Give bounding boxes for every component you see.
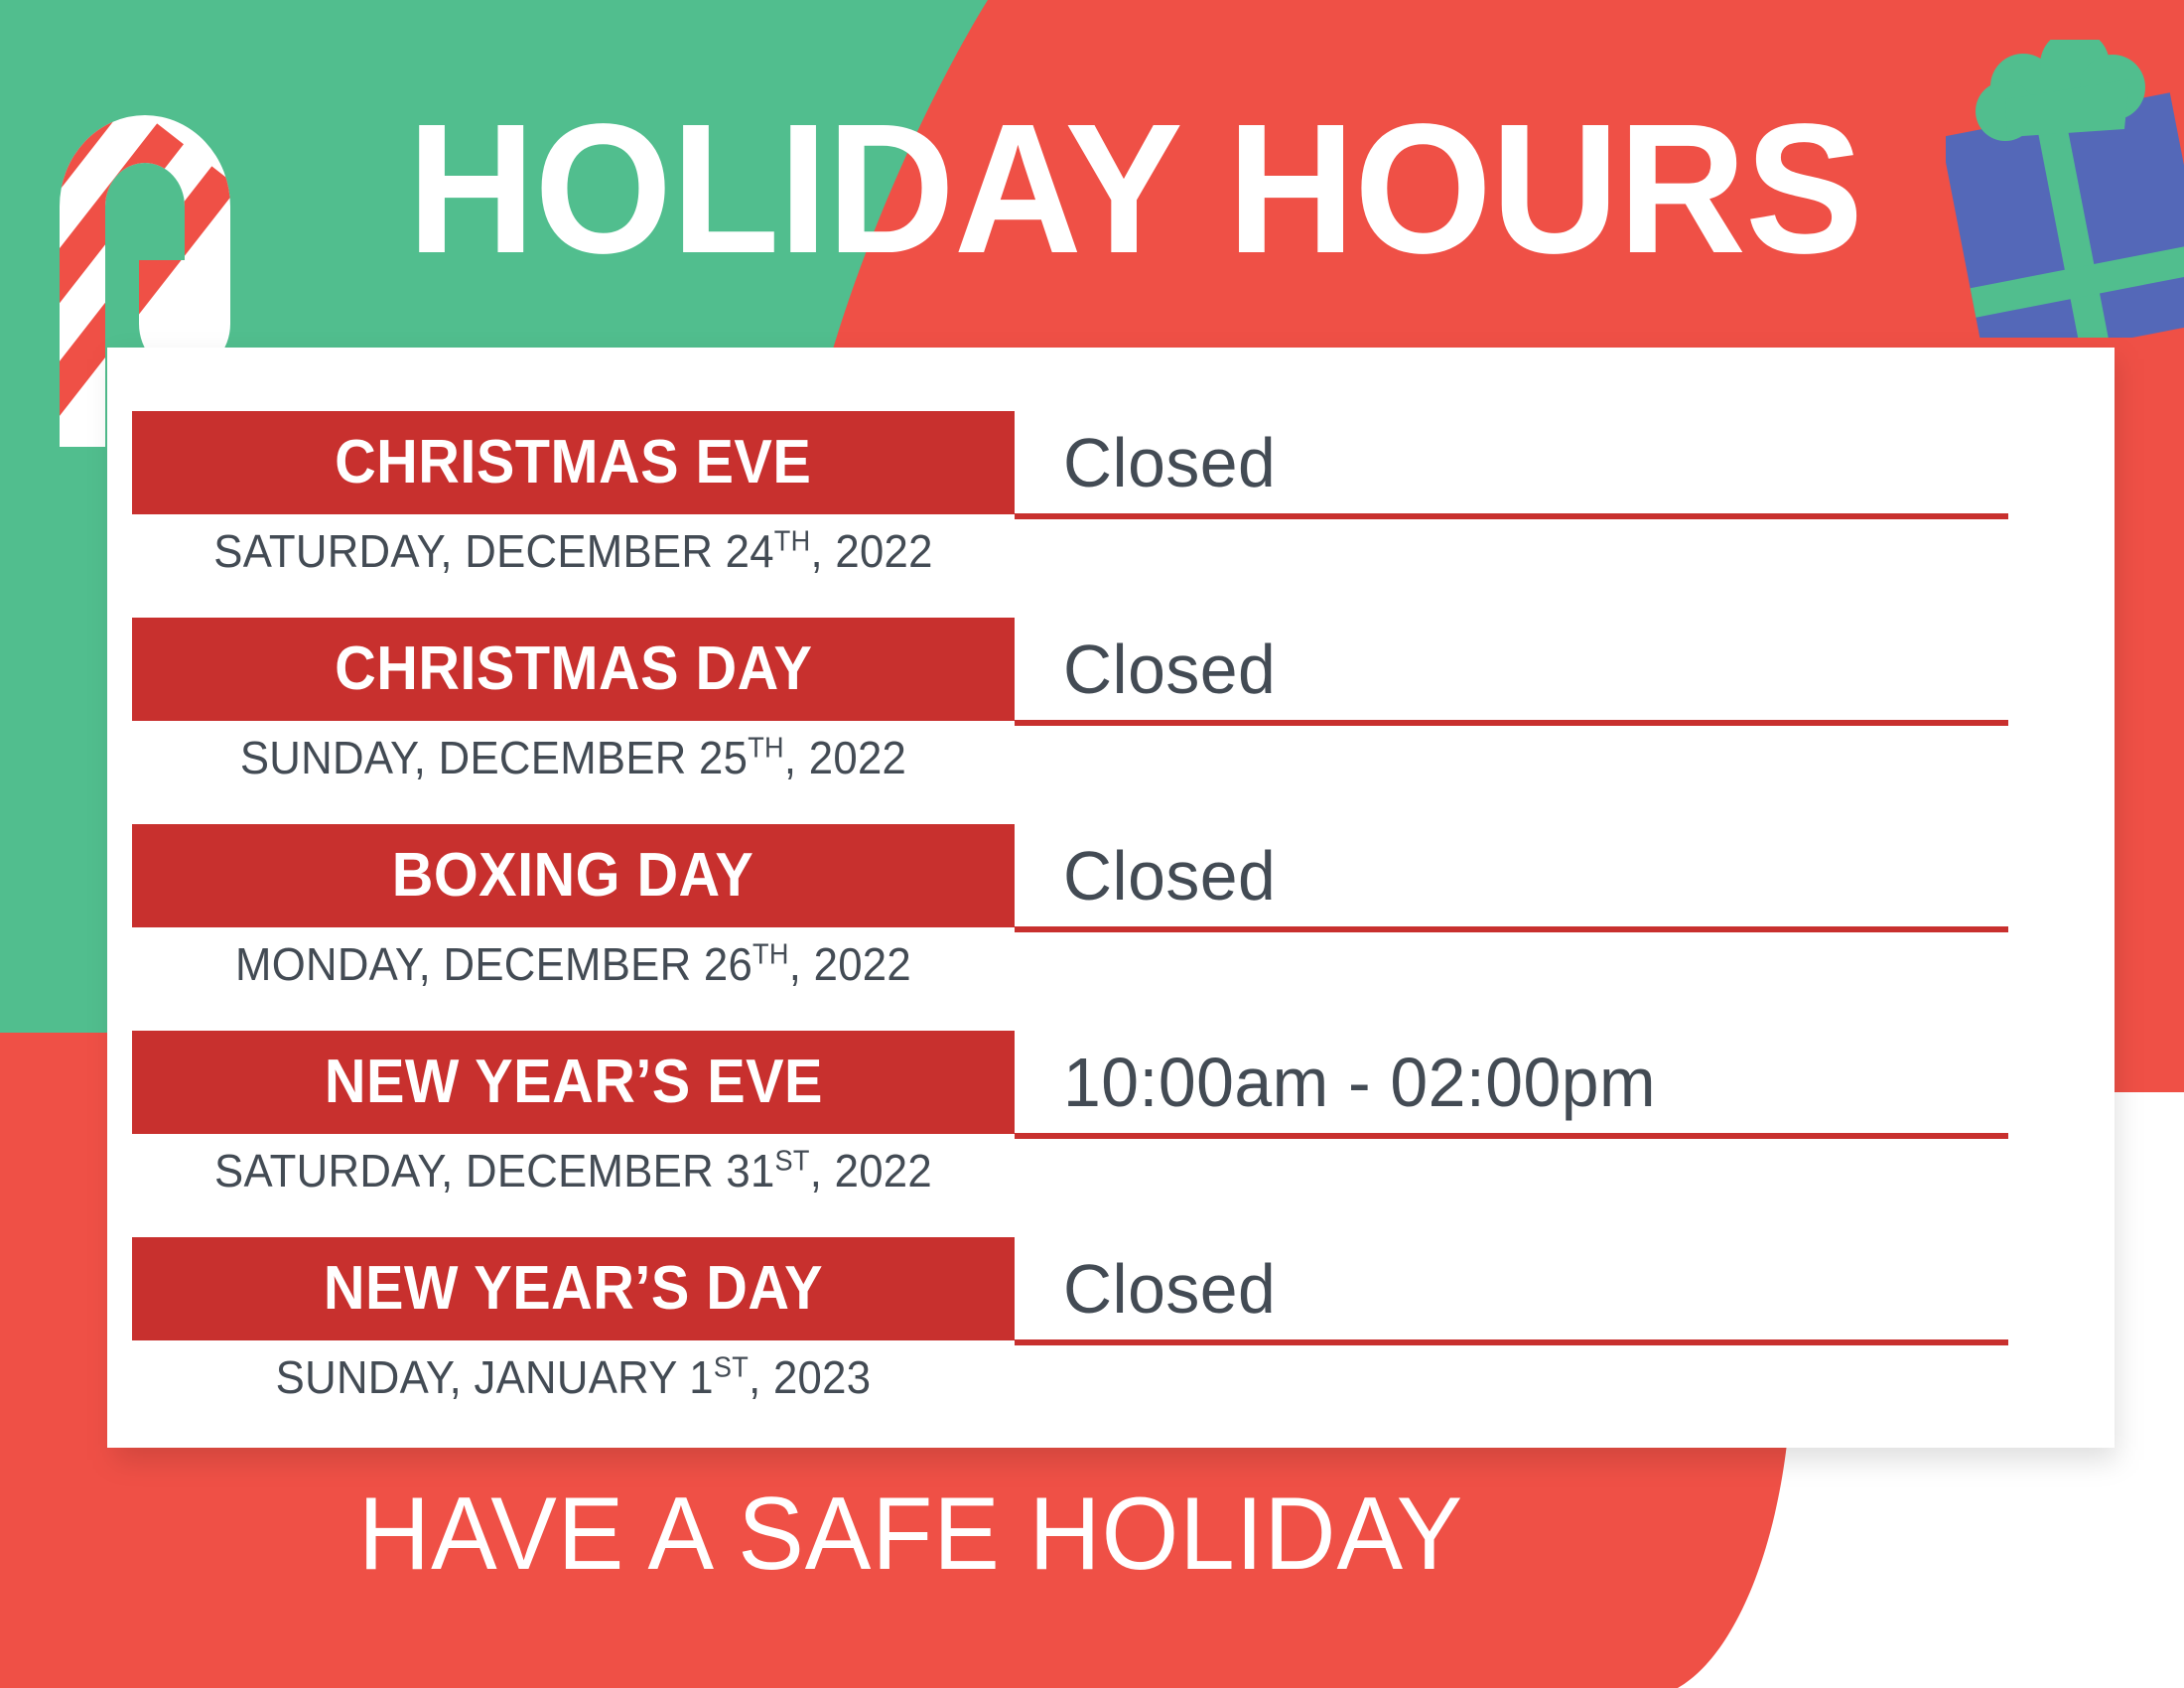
holiday-date-suffix: , 2022 bbox=[789, 938, 911, 990]
schedule-row: NEW YEAR’S DAY Closed SUNDAY, JANUARY 1S… bbox=[107, 1237, 2115, 1444]
holiday-hours-poster: HOLIDAY HOURS CHRISTMAS EVE Closed SATUR… bbox=[0, 0, 2184, 1688]
holiday-date-ordinal: TH bbox=[774, 526, 811, 558]
holiday-date-ordinal: TH bbox=[748, 733, 784, 765]
holiday-name-bar: CHRISTMAS DAY bbox=[132, 618, 1015, 721]
schedule-row: NEW YEAR’S EVE 10:00am - 02:00pm SATURDA… bbox=[107, 1031, 2115, 1237]
holiday-name-label: CHRISTMAS EVE bbox=[335, 432, 811, 493]
holiday-name-bar: BOXING DAY bbox=[132, 824, 1015, 927]
holiday-date-suffix: , 2023 bbox=[749, 1351, 871, 1403]
holiday-hours-cell: Closed bbox=[1063, 618, 2056, 721]
page-title: HOLIDAY HOURS bbox=[44, 95, 2140, 284]
schedule-row: CHRISTMAS EVE Closed SATURDAY, DECEMBER … bbox=[107, 411, 2115, 618]
holiday-hours-value: 10:00am - 02:00pm bbox=[1063, 1047, 1656, 1118]
holiday-name-bar: NEW YEAR’S DAY bbox=[132, 1237, 1015, 1340]
holiday-date: SATURDAY, DECEMBER 24TH, 2022 bbox=[154, 522, 993, 580]
holiday-date-ordinal: TH bbox=[752, 939, 789, 971]
holiday-date-suffix: , 2022 bbox=[784, 732, 906, 783]
row-divider-rule bbox=[1015, 720, 2008, 726]
holiday-date: SATURDAY, DECEMBER 31ST, 2022 bbox=[154, 1142, 993, 1199]
holiday-hours-value: Closed bbox=[1063, 633, 1276, 705]
holiday-date: MONDAY, DECEMBER 26TH, 2022 bbox=[154, 935, 993, 993]
holiday-date: SUNDAY, JANUARY 1ST, 2023 bbox=[154, 1348, 993, 1406]
holiday-name-bar: CHRISTMAS EVE bbox=[132, 411, 1015, 514]
holiday-hours-cell: Closed bbox=[1063, 1237, 2056, 1340]
holiday-hours-value: Closed bbox=[1063, 1253, 1276, 1325]
holiday-date-suffix: , 2022 bbox=[810, 525, 932, 577]
holiday-date-prefix: MONDAY, DECEMBER 26 bbox=[235, 938, 752, 990]
holiday-date-prefix: SUNDAY, JANUARY 1 bbox=[276, 1351, 714, 1403]
holiday-name-label: NEW YEAR’S DAY bbox=[324, 1258, 823, 1320]
schedule-row: CHRISTMAS DAY Closed SUNDAY, DECEMBER 25… bbox=[107, 618, 2115, 824]
holiday-hours-cell: Closed bbox=[1063, 824, 2056, 927]
holiday-hours-value: Closed bbox=[1063, 840, 1276, 912]
holiday-hours-cell: Closed bbox=[1063, 411, 2056, 514]
holiday-date-ordinal: ST bbox=[714, 1352, 749, 1384]
holiday-hours-cell: 10:00am - 02:00pm bbox=[1063, 1031, 2056, 1134]
schedule-card: CHRISTMAS EVE Closed SATURDAY, DECEMBER … bbox=[107, 348, 2115, 1448]
row-divider-rule bbox=[1015, 926, 2008, 932]
holiday-name-bar: NEW YEAR’S EVE bbox=[132, 1031, 1015, 1134]
holiday-date-ordinal: ST bbox=[775, 1146, 810, 1178]
holiday-name-label: BOXING DAY bbox=[392, 845, 754, 907]
row-divider-rule bbox=[1015, 1339, 2008, 1345]
footer-message: HAVE A SAFE HOLIDAY bbox=[44, 1479, 2140, 1589]
holiday-name-label: CHRISTMAS DAY bbox=[335, 638, 812, 700]
holiday-date: SUNDAY, DECEMBER 25TH, 2022 bbox=[154, 729, 993, 786]
row-divider-rule bbox=[1015, 1133, 2008, 1139]
holiday-hours-value: Closed bbox=[1063, 427, 1276, 498]
holiday-name-label: NEW YEAR’S EVE bbox=[324, 1052, 822, 1113]
holiday-date-prefix: SATURDAY, DECEMBER 31 bbox=[214, 1145, 775, 1196]
row-divider-rule bbox=[1015, 513, 2008, 519]
holiday-date-prefix: SUNDAY, DECEMBER 25 bbox=[240, 732, 748, 783]
schedule-row: BOXING DAY Closed MONDAY, DECEMBER 26TH,… bbox=[107, 824, 2115, 1031]
holiday-date-suffix: , 2022 bbox=[810, 1145, 932, 1196]
holiday-date-prefix: SATURDAY, DECEMBER 24 bbox=[213, 525, 774, 577]
